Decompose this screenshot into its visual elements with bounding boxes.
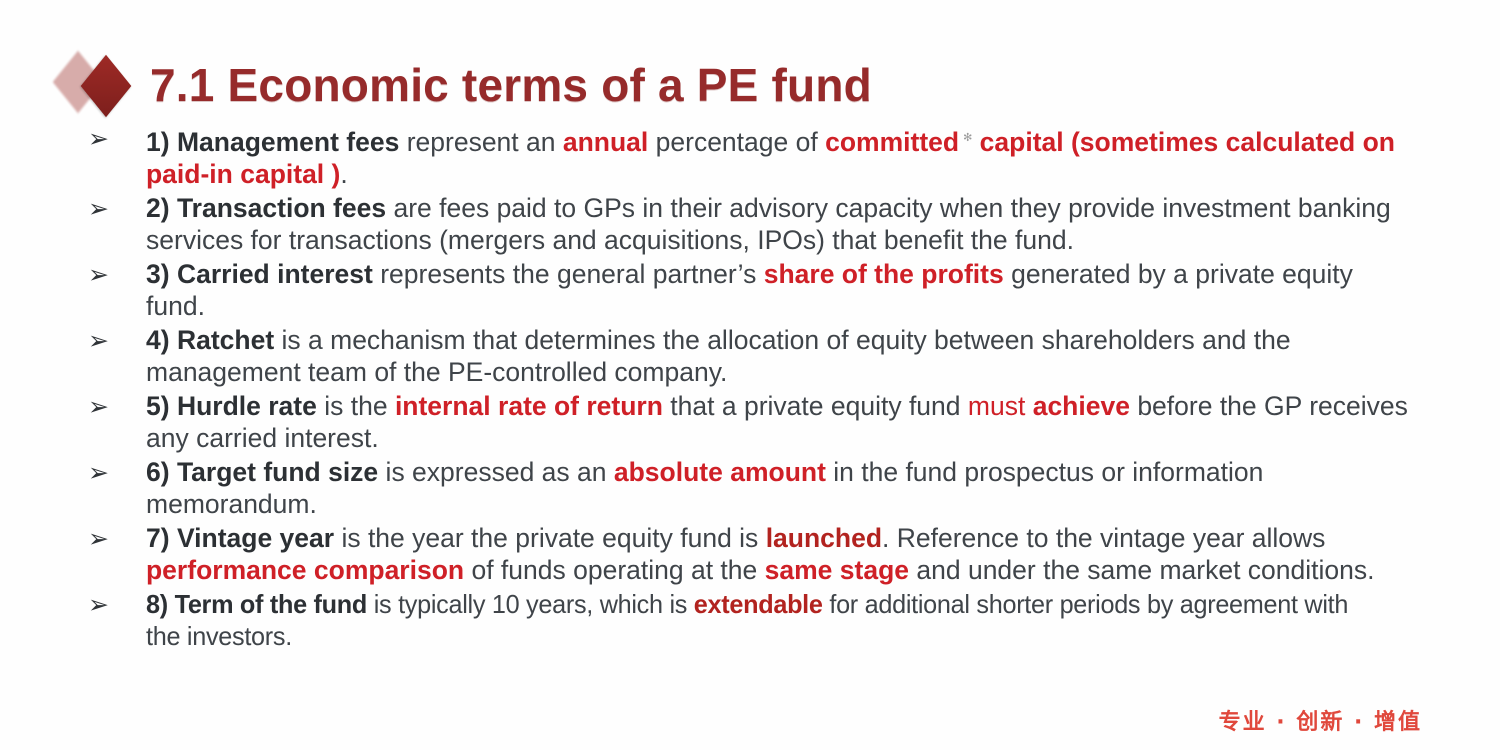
item-highlight-1: annual [563,127,648,157]
item-tail: . [340,159,347,189]
list-item-text: 3) Carried interest represents the gener… [146,258,1418,323]
bullet-arrow-icon: ➢ [88,456,146,489]
item-highlight-1: launched [766,523,882,553]
bullet-arrow-icon: ➢ [88,122,146,155]
list-item: ➢ 5) Hurdle rate is the internal rate of… [88,390,1418,455]
list-item-text: 4) Ratchet is a mechanism that determine… [146,324,1418,389]
item-term [170,127,177,157]
list-item: ➢ 6) Target fund size is expressed as an… [88,456,1418,521]
bullet-arrow-icon: ➢ [88,258,146,291]
item-text-c: of funds operating at the [464,555,765,585]
list-item: ➢ 8) Term of the fund is typically 10 ye… [88,588,1418,653]
bullet-arrow-icon: ➢ [88,324,146,357]
item-highlight-3: same stage [765,555,909,585]
item-space [170,391,177,421]
item-text-b: percentage of [648,127,825,157]
item-space [170,457,177,487]
item-text-a: is the year the private equity fund is [334,523,766,553]
item-highlight-2: performance comparison [146,555,464,585]
list-item: ➢ 4) Ratchet is a mechanism that determi… [88,324,1418,389]
item-highlight-3: achieve [1033,391,1130,421]
item-text-a: is typically 10 years, which is [367,589,694,619]
list-item: ➢ 1) Management fees represent an annual… [88,122,1418,191]
item-term-label: Vintage year [177,523,334,553]
item-number: 6) [146,457,170,487]
item-term-label: Target fund size [177,457,378,487]
bullet-arrow-icon: ➢ [88,522,146,555]
item-text-b: that a private equity fund [663,391,968,421]
item-highlight-2: committed [825,127,959,157]
list-item-text: 5) Hurdle rate is the internal rate of r… [146,390,1418,455]
list-item-text: 2) Transaction fees are fees paid to GPs… [146,192,1418,257]
item-text-a: represents the general partner’s [373,259,764,289]
list-item-text: 8) Term of the fund is typically 10 year… [146,588,1380,653]
item-text-a: is the [317,391,395,421]
item-highlight-1: internal rate of return [395,391,663,421]
item-highlight-2: must [968,391,1025,421]
item-term-label: Management fees [177,127,399,157]
page-title: 7.1 Economic terms of a PE fund [150,58,872,112]
footer-tagline: 专业 · 创新 · 增值 [1219,704,1422,736]
footnote-mark-icon: ✻ [959,132,972,144]
item-number: 5) [146,391,170,421]
item-number: 4) [146,325,170,355]
bullet-arrow-icon: ➢ [88,192,146,225]
list-item: ➢ 3) Carried interest represents the gen… [88,258,1418,323]
list-item-text: 7) Vintage year is the year the private … [146,522,1418,587]
item-text: is a mechanism that determines the alloc… [146,325,1291,388]
item-text-b: . Reference to the vintage year allows [882,523,1325,553]
item-text-a: is expressed as an [378,457,614,487]
item-number: 2) [146,193,170,223]
slide-title-row: 7.1 Economic terms of a PE fund [52,52,872,118]
item-term-label: Ratchet [177,325,274,355]
item-term-label: Term of the fund [175,589,367,619]
item-number: 8) [146,589,168,619]
bullet-list: ➢ 1) Management fees represent an annual… [88,122,1418,654]
list-item-text: 6) Target fund size is expressed as an a… [146,456,1418,521]
item-text-a: represent an [399,127,563,157]
list-item: ➢ 7) Vintage year is the year the privat… [88,522,1418,587]
diamond-bullet-icon [52,56,144,114]
item-highlight-1: share of the profits [764,259,1004,289]
item-number: 3) [146,259,170,289]
item-highlight-1: absolute amount [614,457,826,487]
slide-canvas: 7.1 Economic terms of a PE fund ➢ 1) Man… [0,0,1500,750]
item-space [170,325,177,355]
item-term-label: Hurdle rate [177,391,317,421]
item-space [170,523,177,553]
item-text-d: and under the same market conditions. [909,555,1374,585]
item-term-label: Transaction fees [177,193,386,223]
item-number: 7) [146,523,170,553]
item-term-label: Carried interest [177,259,373,289]
item-number: 1) [146,127,170,157]
item-space [170,193,177,223]
bullet-arrow-icon: ➢ [88,390,146,423]
list-item-text: 1) Management fees represent an annual p… [146,122,1418,191]
list-item: ➢ 2) Transaction fees are fees paid to G… [88,192,1418,257]
item-space [170,259,177,289]
bullet-arrow-icon: ➢ [88,588,146,621]
item-highlight-1: extendable [694,589,823,619]
